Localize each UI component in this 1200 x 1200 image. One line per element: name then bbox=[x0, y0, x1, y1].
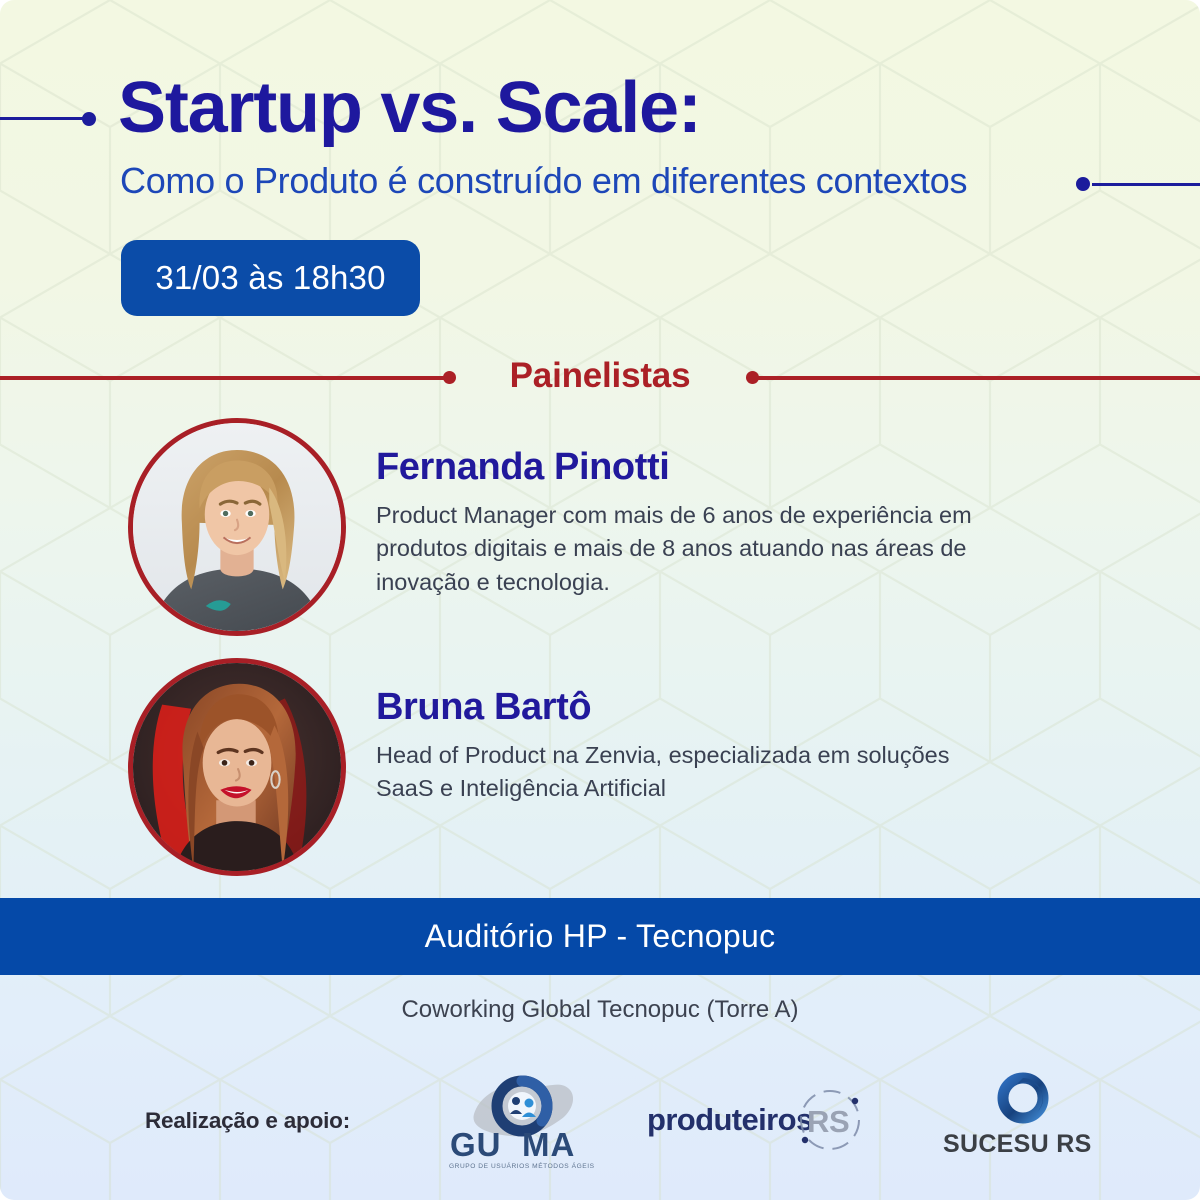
venue-name: Auditório HP - Tecnopuc bbox=[425, 918, 776, 955]
avatar bbox=[128, 418, 346, 636]
page-subtitle: Como o Produto é construído em diferente… bbox=[120, 160, 967, 202]
sucesu-rs-word: SUCESU RS bbox=[943, 1130, 1092, 1158]
speaker-text-block: Bruna Bartô Head of Product na Zenvia, e… bbox=[376, 658, 1001, 806]
logo-sucesu-rs: SUCESU RS bbox=[940, 1068, 1105, 1178]
speaker-bio: Product Manager com mais de 6 anos de ex… bbox=[376, 499, 1001, 599]
decorative-dot-left bbox=[82, 112, 96, 126]
venue-bar: Auditório HP - Tecnopuc bbox=[0, 898, 1200, 975]
guma-word-right: MA bbox=[522, 1126, 575, 1163]
decorative-line-right bbox=[1092, 183, 1200, 186]
decorative-dot-right bbox=[1076, 177, 1090, 191]
speaker-text-block: Fernanda Pinotti Product Manager com mai… bbox=[376, 418, 1001, 599]
produteiros-rs-logo-icon: produteiros RS bbox=[645, 1068, 870, 1178]
speaker-card: Fernanda Pinotti Product Manager com mai… bbox=[128, 418, 1138, 636]
speaker-card: Bruna Bartô Head of Product na Zenvia, e… bbox=[128, 658, 1138, 876]
footer-label: Realização e apoio: bbox=[145, 1108, 350, 1134]
date-badge: 31/03 às 18h30 bbox=[121, 240, 420, 316]
page-title: Startup vs. Scale: bbox=[118, 72, 701, 144]
event-poster: Startup vs. Scale: Como o Produto é cons… bbox=[0, 0, 1200, 1200]
sucesu-rs-logo-icon: SUCESU RS bbox=[940, 1068, 1105, 1178]
footer-sponsors: Realização e apoio: GU MA GRUPO DE USUÁR… bbox=[0, 1068, 1200, 1178]
guma-logo-icon: GU MA GRUPO DE USUÁRIOS MÉTODOS ÁGEIS bbox=[440, 1068, 605, 1178]
speaker-name: Bruna Bartô bbox=[376, 686, 1001, 729]
produteiros-rs-badge: RS bbox=[807, 1104, 849, 1139]
decorative-line-left bbox=[0, 117, 90, 120]
date-badge-text: 31/03 às 18h30 bbox=[155, 259, 385, 297]
portrait-fernanda-pinotti-image bbox=[133, 423, 341, 631]
guma-tagline: GRUPO DE USUÁRIOS MÉTODOS ÁGEIS bbox=[449, 1161, 595, 1170]
panelists-section-label: Painelistas bbox=[0, 356, 1200, 396]
venue-address: Coworking Global Tecnopuc (Torre A) bbox=[0, 996, 1200, 1024]
logo-guma: GU MA GRUPO DE USUÁRIOS MÉTODOS ÁGEIS bbox=[440, 1068, 605, 1178]
speaker-name: Fernanda Pinotti bbox=[376, 446, 1001, 489]
speaker-bio: Head of Product na Zenvia, especializada… bbox=[376, 739, 1001, 806]
logo-produteiros-rs: produteiros RS bbox=[645, 1068, 870, 1178]
avatar bbox=[128, 658, 346, 876]
portrait-bruna-barto-image bbox=[133, 663, 341, 871]
guma-word-left: GU bbox=[450, 1126, 502, 1163]
produteiros-word: produteiros bbox=[647, 1102, 813, 1137]
